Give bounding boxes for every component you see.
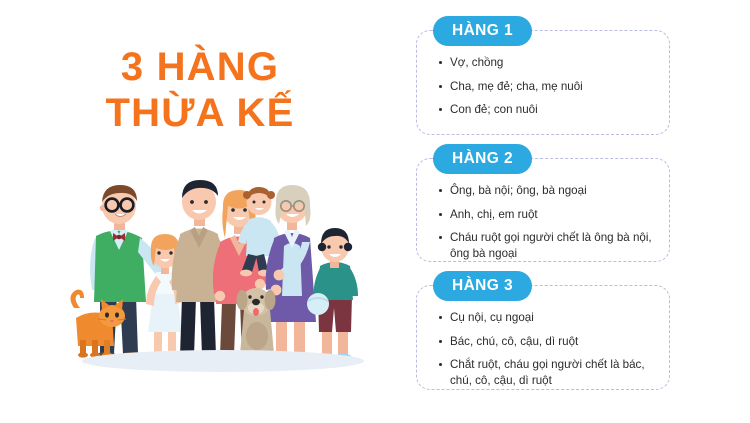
rank-badge-3: HÀNG 3 <box>433 271 532 301</box>
infographic-page: 3 HÀNG THỪA KẾ <box>0 0 750 423</box>
title-line-1: 3 HÀNG <box>0 44 400 90</box>
rank-box-3: HÀNG 3 Cụ nội, cụ ngoại Bác, chú, cô, cậ… <box>416 285 670 390</box>
list-item: Chắt ruột, cháu gọi người chết là bác, c… <box>439 357 653 388</box>
figure-boy <box>307 228 358 362</box>
list-item: Cháu ruột gọi người chết là ông bà nội, … <box>439 230 653 261</box>
rank-badge-2: HÀNG 2 <box>433 144 532 174</box>
family-illustration <box>70 168 370 383</box>
list-item: Bác, chú, cô, cậu, dì ruột <box>439 334 653 350</box>
page-title: 3 HÀNG THỪA KẾ <box>0 44 400 136</box>
list-item: Cha, mẹ đẻ; cha, mẹ nuôi <box>439 79 653 95</box>
rank-list-2: Ông, bà nội; ông, bà ngoại Anh, chị, em … <box>417 159 669 271</box>
title-line-2: THỪA KẾ <box>0 90 400 136</box>
list-item: Anh, chị, em ruột <box>439 207 653 223</box>
rank-box-2: HÀNG 2 Ông, bà nội; ông, bà ngoại Anh, c… <box>416 158 670 262</box>
figure-grandmother <box>266 185 316 363</box>
list-item: Ông, bà nội; ông, bà ngoại <box>439 183 653 199</box>
left-panel: 3 HÀNG THỪA KẾ <box>0 0 400 423</box>
rank-badge-1: HÀNG 1 <box>433 16 532 46</box>
rank-list-3: Cụ nội, cụ ngoại Bác, chú, cô, cậu, dì r… <box>417 286 669 398</box>
rank-box-1: HÀNG 1 Vợ, chồng Cha, mẹ đẻ; cha, mẹ nuô… <box>416 30 670 135</box>
inheritance-ranks-panel: HÀNG 1 Vợ, chồng Cha, mẹ đẻ; cha, mẹ nuô… <box>408 0 750 423</box>
list-item: Vợ, chồng <box>439 55 653 71</box>
list-item: Cụ nội, cụ ngoại <box>439 310 653 326</box>
ground-shadow <box>82 350 364 372</box>
list-item: Con đẻ; con nuôi <box>439 102 653 118</box>
